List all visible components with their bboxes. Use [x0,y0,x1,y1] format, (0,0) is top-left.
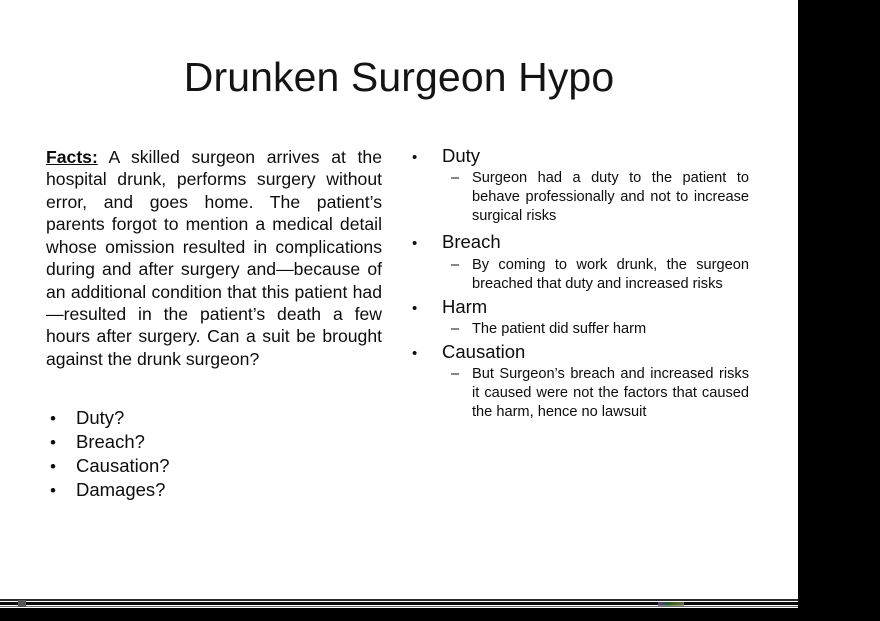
element-group-breach: • Breach – By coming to work drunk, the … [409,230,749,293]
element-detail-text: By coming to work drunk, the surgeon bre… [472,256,749,294]
left-question-list: • Duty? • Breach? • Causation? • Damages… [42,406,362,502]
band-color-artifact [658,602,684,606]
element-detail-row[interactable]: – But Surgeon’s breach and increased ris… [409,365,749,422]
facts-body-text: A skilled surgeon arrives at the hospita… [46,147,382,369]
element-group-duty: • Duty – Surgeon had a duty to the patie… [409,144,749,226]
element-detail-row[interactable]: – The patient did suffer harm [409,320,749,339]
element-heading-row[interactable]: • Duty [409,144,749,168]
element-detail-text: The patient did suffer harm [472,320,749,339]
bullet-icon: • [42,432,76,453]
element-heading-label: Breach [442,230,749,254]
element-heading-label: Harm [442,295,749,319]
element-heading-label: Causation [442,340,749,364]
list-item-label: Damages? [76,478,362,501]
backdrop-right-panel [798,0,880,612]
element-heading-label: Duty [442,144,749,168]
element-group-harm: • Harm – The patient did suffer harm [409,295,749,339]
left-column: Facts: A skilled surgeon arrives at the … [46,146,382,370]
facts-paragraph: Facts: A skilled surgeon arrives at the … [46,146,382,370]
dash-icon: – [409,320,472,339]
bullet-icon: • [409,234,442,254]
slide-page: Drunken Surgeon Hypo Facts: A skilled su… [0,0,798,612]
dash-icon: – [409,256,472,275]
element-heading-row[interactable]: • Harm [409,295,749,319]
element-detail-text: But Surgeon’s breach and increased risks… [472,365,749,422]
list-item-label: Causation? [76,454,362,477]
list-item[interactable]: • Causation? [42,454,362,478]
list-item[interactable]: • Duty? [42,406,362,430]
bullet-icon: • [409,299,442,319]
band-line [0,608,798,612]
dash-icon: – [409,169,472,188]
element-heading-row[interactable]: • Breach [409,230,749,254]
band-line [0,599,798,601]
dash-icon: – [409,365,472,384]
band-left-nub [18,600,26,607]
band-line [0,606,798,607]
element-detail-row[interactable]: – By coming to work drunk, the surgeon b… [409,256,749,294]
facts-label: Facts: [46,147,98,167]
bullet-icon: • [42,480,76,501]
bullet-icon: • [409,148,442,168]
backdrop-bottom-panel [0,612,880,621]
list-item[interactable]: • Breach? [42,430,362,454]
element-group-causation: • Causation – But Surgeon’s breach and i… [409,340,749,422]
element-heading-row[interactable]: • Causation [409,340,749,364]
bullet-icon: • [42,456,76,477]
bullet-icon: • [42,408,76,429]
slide-root: Drunken Surgeon Hypo Facts: A skilled su… [0,0,880,621]
slide-title: Drunken Surgeon Hypo [40,54,758,101]
list-item[interactable]: • Damages? [42,478,362,502]
page-bottom-band [0,598,798,612]
list-item-label: Breach? [76,430,362,453]
bullet-icon: • [409,344,442,364]
right-column: • Duty – Surgeon had a duty to the patie… [409,144,749,423]
list-item-label: Duty? [76,406,362,429]
element-detail-row[interactable]: – Surgeon had a duty to the patient to b… [409,169,749,226]
element-detail-text: Surgeon had a duty to the patient to beh… [472,169,749,226]
